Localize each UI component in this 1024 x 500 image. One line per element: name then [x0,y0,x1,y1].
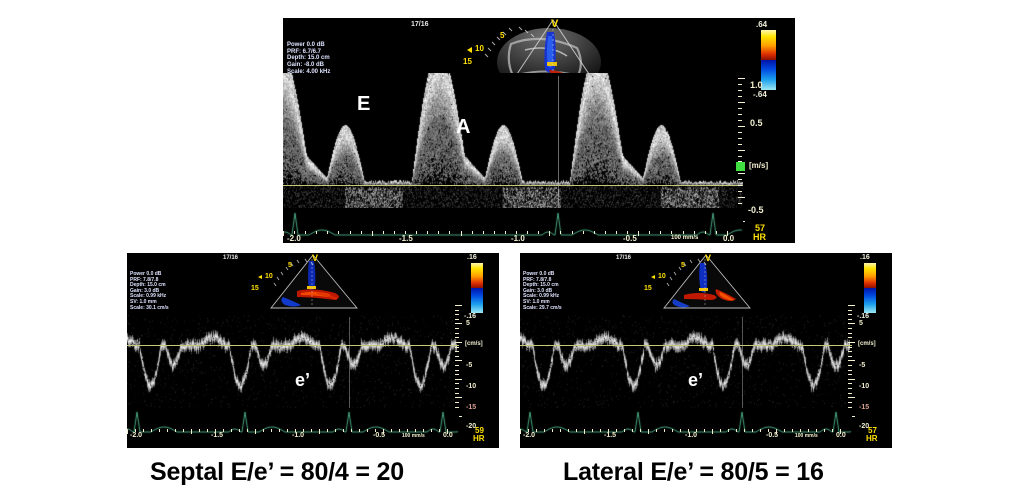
time-tick--2-0: -2.0 [523,432,535,439]
focus-arrow-icon [467,47,472,53]
colorbar-max-label: .64 [756,20,767,29]
time-tick--0-5: -0.5 [766,432,778,439]
velocity-tick-neg-5: -5 [466,362,472,369]
time-tick--0-5: -0.5 [373,432,385,439]
time-tick--1-0: -1.0 [292,432,304,439]
velocity-axis-ticks [455,305,463,425]
frame-counter: 17/16 [223,255,238,261]
time-tick--1-0: -1.0 [511,234,525,243]
heart-rate-label: HR [473,434,485,443]
e-prime-label: e’ [688,370,703,391]
e-wave-label: E [357,93,370,116]
sweep-speed-label: 100 mm/s [795,433,818,439]
a-wave-label: A [456,116,470,139]
colorbar-min-label: -.16 [464,313,476,320]
baseline-marker-icon [736,162,745,171]
color-doppler-colorbar [864,263,876,313]
velocity-tick-1-0: 1.0 [750,80,763,90]
frame-counter: 17/16 [616,255,631,261]
sweep-speed-label: 100 mm/s [402,433,425,439]
velocity-tick-5: 5 [466,320,470,327]
heart-rate-label: HR [753,232,766,242]
sector-depth-scale [662,258,714,301]
septal-tdi-panel: 17/16 Power 0.0 dB PRF: 7.8/7.8 Depth: 1… [127,253,499,448]
sector-apex-marker-v: V [551,18,558,30]
mitral-inflow-panel: 17/16 Power 0.0 dB PRF: 6.7/6.7 Depth: 1… [283,18,795,243]
velocity-tick-neg-10: -10 [466,383,476,390]
velocity-axis-ticks [848,305,856,425]
depth-mark-15: 15 [463,57,472,66]
time-tick--2-0: -2.0 [287,234,301,243]
zero-baseline [283,185,743,186]
color-doppler-colorbar [471,263,483,313]
velocity-tick-neg-0-5: -0.5 [748,205,764,215]
sector-depth-scale [269,258,321,301]
colorbar-min-label: -.16 [857,313,869,320]
time-tick--1-0: -1.0 [685,432,697,439]
acquisition-parameters: Power 0.0 dB PRF: 7.8/7.8 Depth: 15.0 cm… [130,272,169,311]
velocity-tick-0-5: 0.5 [750,118,763,128]
color-doppler-colorbar [761,30,776,90]
septal-caption: Septal E/e’ = 80/4 = 20 [150,458,404,487]
time-tick--1-5: -1.5 [604,432,616,439]
focus-arrow-icon [258,275,262,279]
time-tick-0-0: 0.0 [723,234,734,243]
colorbar-max-label: .16 [467,254,477,261]
time-tick-0-0: 0.0 [836,432,846,439]
lateral-caption: Lateral E/e’ = 80/5 = 16 [563,458,824,487]
velocity-tick-neg-5: -5 [859,362,865,369]
zero-baseline [127,345,459,346]
time-tick--1-5: -1.5 [211,432,223,439]
colorbar-min-label: -.64 [753,90,767,99]
velocity-axis-unit: [cm/s] [465,341,483,347]
velocity-axis-unit: [m/s] [749,161,768,170]
time-tick--0-5: -0.5 [623,234,637,243]
zero-baseline [520,345,852,346]
depth-mark-15: 15 [251,285,259,292]
velocity-axis-unit: [cm/s] [858,341,876,347]
time-tick-0-0: 0.0 [443,432,453,439]
depth-mark-15: 15 [644,285,652,292]
sector-depth-scale [479,26,539,77]
lateral-tdi-panel: 17/16 Power 0.0 dB PRF: 7.8/7.8 Depth: 1… [520,253,892,448]
heart-rate-label: HR [866,434,878,443]
time-tick--1-5: -1.5 [399,234,413,243]
velocity-tick-5: 5 [859,320,863,327]
colorbar-max-label: .16 [860,254,870,261]
velocity-tick-neg-15: -15 [466,404,476,411]
frame-counter: 17/16 [411,21,429,28]
time-tick--2-0: -2.0 [130,432,142,439]
sweep-speed-label: 100 mm/s [671,235,698,241]
acquisition-parameters: Power 0.0 dB PRF: 7.8/7.8 Depth: 15.0 cm… [523,272,562,311]
velocity-tick-neg-15: -15 [859,404,869,411]
focus-arrow-icon [651,275,655,279]
velocity-tick-neg-10: -10 [859,383,869,390]
e-prime-label: e’ [295,370,310,391]
